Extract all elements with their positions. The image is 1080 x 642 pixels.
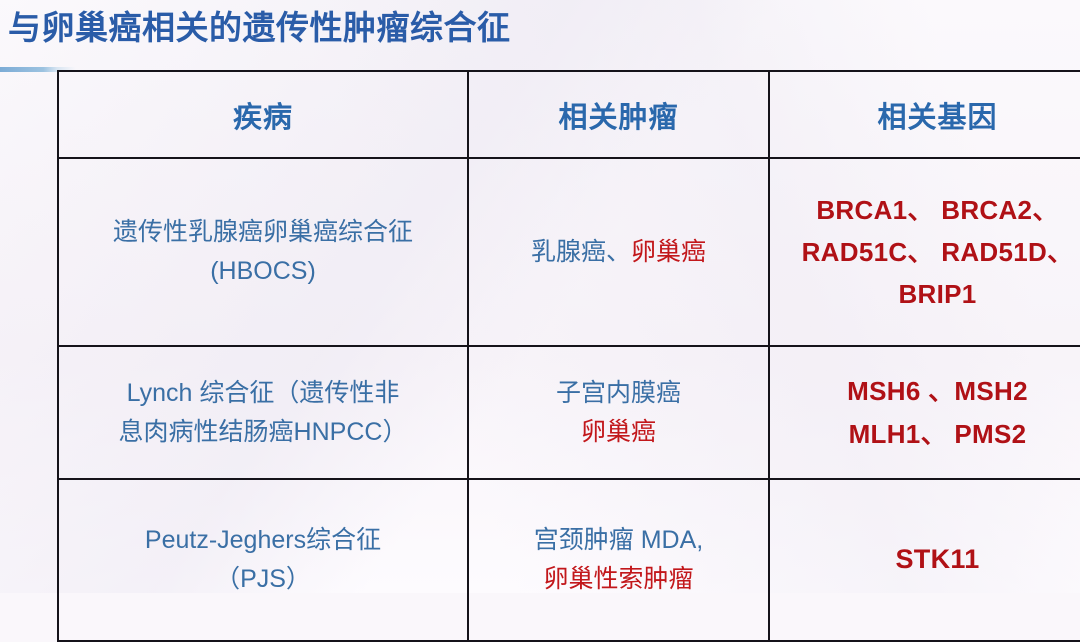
- tumor-text-red: 卵巢癌: [631, 238, 706, 266]
- cell-disease-lynch: Lynch 综合征（遗传性非 息肉病性结肠癌HNPCC）: [58, 346, 468, 479]
- tumor-text-blue: 乳腺癌、: [531, 238, 631, 266]
- table-body: 遗传性乳腺癌卵巢癌综合征 (HBOCS) 乳腺癌、卵巢癌 BRCA1、 BRCA…: [58, 158, 1080, 641]
- page-title: 与卵巢癌相关的遗传性肿瘤综合征: [8, 8, 511, 48]
- disease-abbrev-line: (HBOCS): [65, 252, 461, 291]
- table-header-row: 疾病 相关肿瘤 相关基因: [58, 71, 1080, 158]
- gene-line: BRCA1、 BRCA2、: [776, 189, 1080, 231]
- disease-name-line: Peutz-Jeghers综合征: [65, 521, 461, 560]
- gene-line: BRIP1: [776, 273, 1080, 315]
- tumor-line: 乳腺癌、卵巢癌: [475, 233, 762, 272]
- cell-gene-pjs: STK11: [769, 479, 1080, 641]
- disease-name-line: Lynch 综合征（遗传性非: [65, 374, 461, 413]
- gene-line: MSH6 、MSH2: [776, 370, 1080, 412]
- column-header-related-tumor: 相关肿瘤: [468, 71, 769, 158]
- table-row: 遗传性乳腺癌卵巢癌综合征 (HBOCS) 乳腺癌、卵巢癌 BRCA1、 BRCA…: [58, 158, 1080, 346]
- cell-tumor-pjs: 宫颈肿瘤 MDA, 卵巢性索肿瘤: [468, 479, 769, 641]
- gene-line: RAD51C、 RAD51D、: [776, 231, 1080, 273]
- cell-tumor-hbocs: 乳腺癌、卵巢癌: [468, 158, 769, 346]
- cell-disease-pjs: Peutz-Jeghers综合征 （PJS）: [58, 479, 468, 641]
- column-header-related-gene: 相关基因: [769, 71, 1080, 158]
- table-row: Peutz-Jeghers综合征 （PJS） 宫颈肿瘤 MDA, 卵巢性索肿瘤 …: [58, 479, 1080, 641]
- cell-gene-lynch: MSH6 、MSH2 MLH1、 PMS2: [769, 346, 1080, 479]
- tumor-text-blue: 子宫内膜癌: [475, 374, 762, 413]
- disease-abbrev-line: 息肉病性结肠癌HNPCC）: [65, 413, 461, 452]
- hereditary-tumor-syndrome-table: 疾病 相关肿瘤 相关基因 遗传性乳腺癌卵巢癌综合征 (HBOCS) 乳腺癌、卵巢…: [57, 70, 1080, 642]
- table-header: 疾病 相关肿瘤 相关基因: [58, 71, 1080, 158]
- cell-gene-hbocs: BRCA1、 BRCA2、 RAD51C、 RAD51D、 BRIP1: [769, 158, 1080, 346]
- cell-tumor-lynch: 子宫内膜癌 卵巢癌: [468, 346, 769, 479]
- cell-disease-hbocs: 遗传性乳腺癌卵巢癌综合征 (HBOCS): [58, 158, 468, 346]
- gene-line: MLH1、 PMS2: [776, 413, 1080, 455]
- tumor-text-blue: 宫颈肿瘤 MDA,: [475, 521, 762, 560]
- disease-name-line: 遗传性乳腺癌卵巢癌综合征: [65, 213, 461, 252]
- table-row: Lynch 综合征（遗传性非 息肉病性结肠癌HNPCC） 子宫内膜癌 卵巢癌 M…: [58, 346, 1080, 479]
- tumor-text-red: 卵巢癌: [475, 413, 762, 452]
- column-header-disease: 疾病: [58, 71, 468, 158]
